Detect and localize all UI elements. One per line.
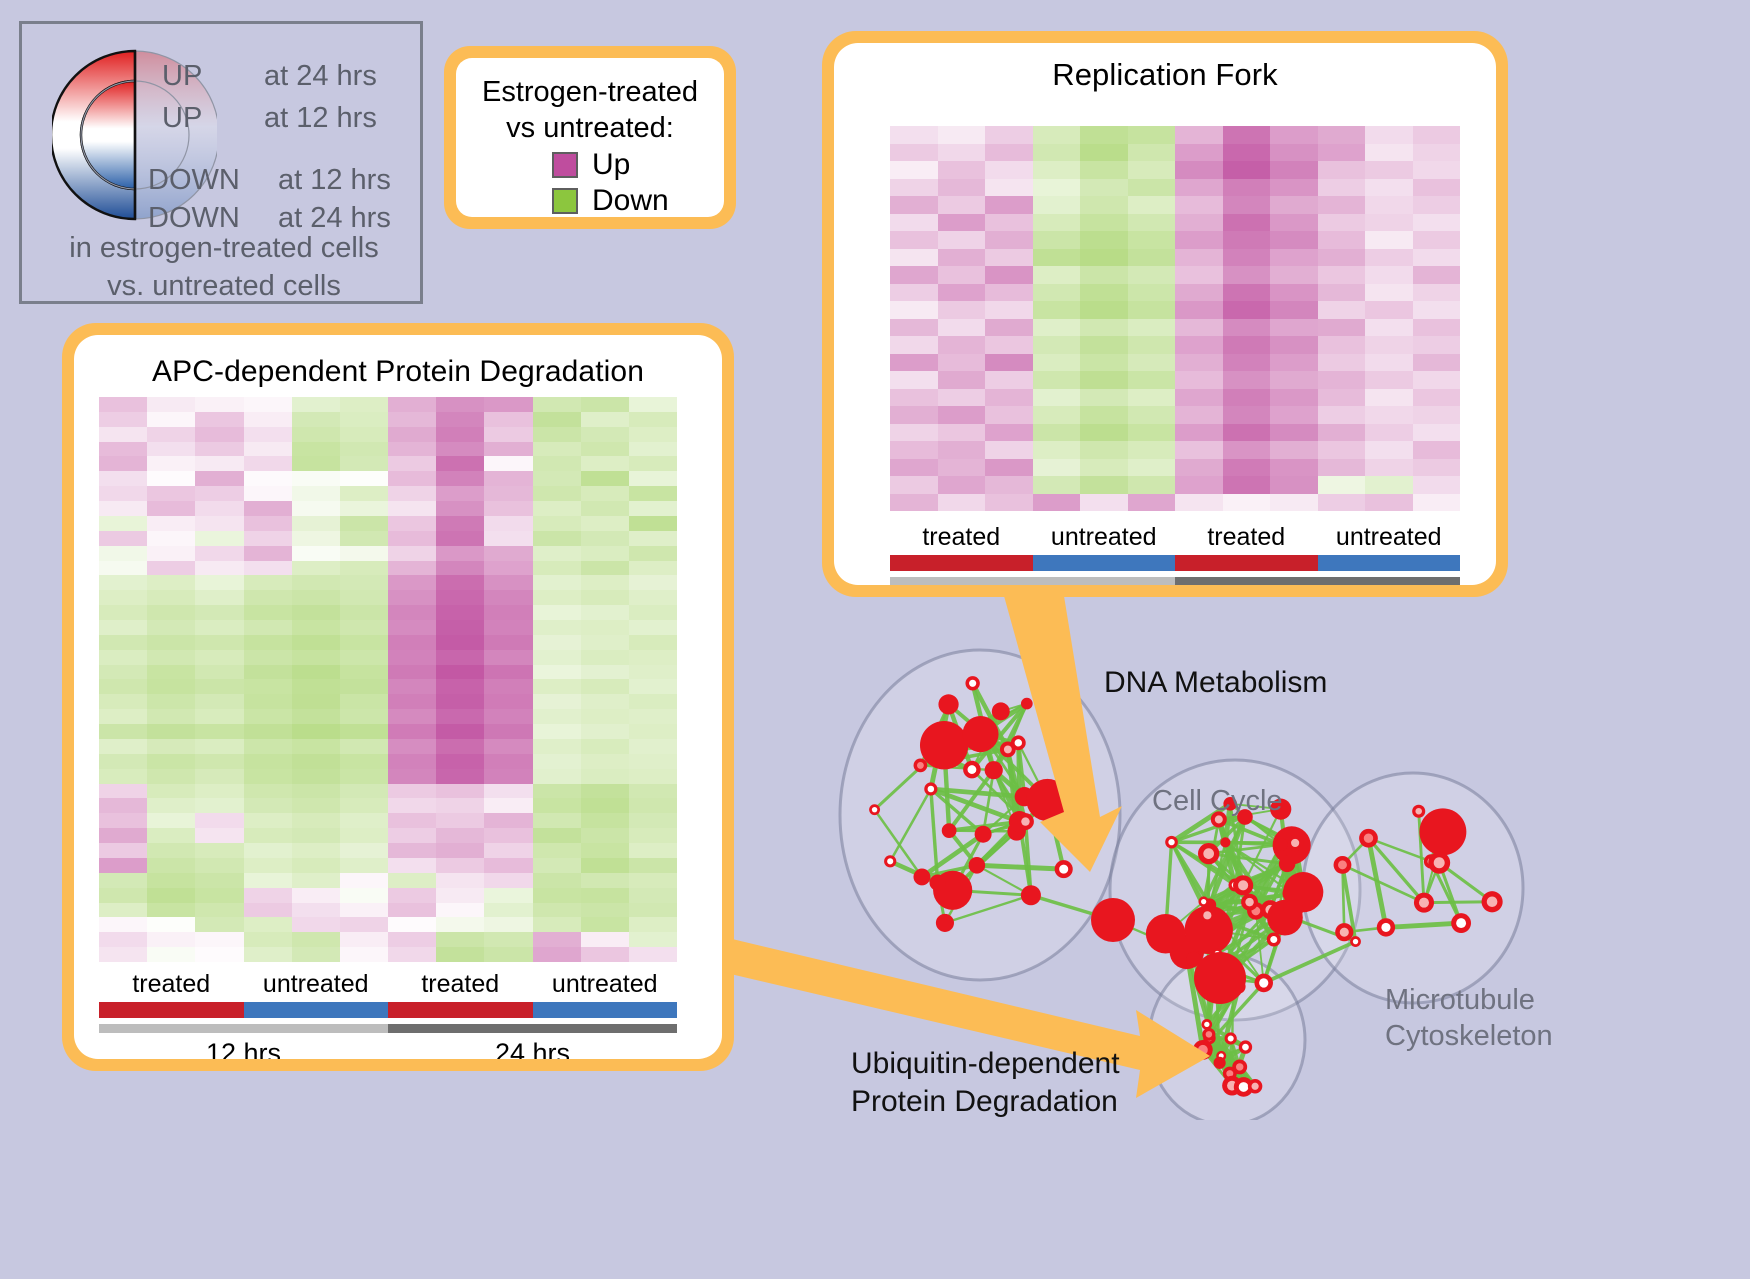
heatmap-cell	[1223, 371, 1271, 389]
heatmap-cell	[340, 947, 388, 962]
heatmap-cell	[484, 665, 532, 680]
heatmap-cell	[484, 784, 532, 799]
heatmap-cell	[244, 635, 292, 650]
heatmap-cell	[629, 932, 677, 947]
heatmap-cell	[292, 397, 340, 412]
heatmap-cell	[244, 828, 292, 843]
heatmap-cell	[195, 546, 243, 561]
heatmap-cell	[629, 635, 677, 650]
heatmap-cell	[1365, 284, 1413, 302]
heatmap-cell	[1413, 231, 1461, 249]
apc-title: APC-dependent Protein Degradation	[74, 335, 722, 389]
heatmap-cell	[533, 650, 581, 665]
heatmap-cell	[1175, 196, 1223, 214]
heatmap-cell	[436, 709, 484, 724]
network-node	[1146, 914, 1185, 953]
heatmap-cell	[629, 531, 677, 546]
heatmap-cell	[484, 501, 532, 516]
heatmap-cell	[436, 784, 484, 799]
heatmap-cell	[195, 665, 243, 680]
heatmap-cell	[195, 784, 243, 799]
heatmap-cell	[581, 754, 629, 769]
heatmap-cell	[985, 476, 1033, 494]
heatmap-cell	[629, 709, 677, 724]
heatmap-cell	[244, 442, 292, 457]
heatmap-cell	[436, 516, 484, 531]
heatmap-cell	[1128, 494, 1176, 512]
heatmap-cell	[340, 679, 388, 694]
heatmap-cell	[1318, 214, 1366, 232]
heatmap-cell	[581, 650, 629, 665]
heatmap-cell	[388, 456, 436, 471]
heatmap-cell	[292, 784, 340, 799]
heatmap-cell	[244, 873, 292, 888]
heatmap-cell	[484, 635, 532, 650]
heatmap-cell	[1175, 231, 1223, 249]
heatmap-cell	[1175, 319, 1223, 337]
heatmap-cell	[629, 561, 677, 576]
heatmap-cell	[533, 843, 581, 858]
heatmap-cell	[1365, 441, 1413, 459]
heatmap-cell	[244, 694, 292, 709]
heatmap-cell	[1080, 459, 1128, 477]
heatmap-cell	[147, 501, 195, 516]
heatmap-cell	[195, 769, 243, 784]
heatmap-cell	[1365, 459, 1413, 477]
heatmap-cell	[629, 412, 677, 427]
network-node	[1194, 952, 1246, 1004]
heatmap-cell	[484, 888, 532, 903]
heatmap-cell	[1365, 126, 1413, 144]
heatmap-cell	[436, 412, 484, 427]
heatmap-cell	[890, 319, 938, 337]
heatmap-cell	[1318, 354, 1366, 372]
heatmap-cell	[938, 459, 986, 477]
heatmap-cell	[484, 442, 532, 457]
heatmap-cell	[340, 813, 388, 828]
heatmap-cell	[985, 301, 1033, 319]
heatmap-cell	[1128, 371, 1176, 389]
heatmap-cell	[1033, 319, 1081, 337]
heatmap-cell	[436, 620, 484, 635]
heatmap-cell	[195, 903, 243, 918]
network-node-core	[1239, 1082, 1249, 1092]
heatmap-cell	[436, 694, 484, 709]
heatmap-cell	[195, 754, 243, 769]
replication-fork-title: Replication Fork	[834, 43, 1496, 93]
heatmap-cell	[1175, 284, 1223, 302]
heatmap-cell	[340, 575, 388, 590]
heatmap-cell	[195, 858, 243, 873]
network-node	[1284, 899, 1304, 919]
heatmap-cell	[99, 397, 147, 412]
heatmap-cell	[1128, 354, 1176, 372]
heatmap-cell	[340, 456, 388, 471]
heatmap-cell	[147, 412, 195, 427]
heatmap-cell	[484, 412, 532, 427]
heatmap-cell	[1223, 161, 1271, 179]
heatmap-cell	[484, 858, 532, 873]
heatmap-cell	[292, 442, 340, 457]
heatmap-cell	[147, 635, 195, 650]
heatmap-cell	[1033, 406, 1081, 424]
heatmap-cell	[388, 501, 436, 516]
heatmap-cell	[484, 917, 532, 932]
heatmap-cell	[1128, 319, 1176, 337]
heatmap-cell	[1128, 179, 1176, 197]
heatmap-cell	[436, 456, 484, 471]
heatmap-cell	[581, 828, 629, 843]
replication-fork-axis: treated untreated treated untreated 12 h…	[890, 523, 1460, 585]
key-row-0-label: UP	[162, 60, 202, 93]
heatmap-cell	[484, 843, 532, 858]
network-node	[1026, 779, 1068, 821]
heatmap-cell	[938, 214, 986, 232]
heatmap-cell	[292, 605, 340, 620]
heatmap-cell	[99, 917, 147, 932]
heatmap-cell	[581, 709, 629, 724]
updown-legend-panel: Estrogen-treated vs untreated: Up Down	[444, 46, 736, 229]
network-node	[1220, 837, 1230, 847]
heatmap-cell	[292, 427, 340, 442]
heatmap-cell	[147, 546, 195, 561]
heatmap-cell	[629, 679, 677, 694]
heatmap-cell	[484, 828, 532, 843]
time-colorbar-segment	[99, 1024, 388, 1033]
heatmap-cell	[629, 739, 677, 754]
heatmap-cell	[1128, 459, 1176, 477]
heatmap-cell	[629, 888, 677, 903]
heatmap-cell	[1175, 389, 1223, 407]
heatmap-cell	[99, 531, 147, 546]
heatmap-cell	[1413, 389, 1461, 407]
heatmap-cell	[340, 665, 388, 680]
heatmap-cell	[244, 665, 292, 680]
heatmap-cell	[244, 427, 292, 442]
heatmap-cell	[581, 397, 629, 412]
heatmap-cell	[1318, 301, 1366, 319]
heatmap-cell	[1175, 249, 1223, 267]
heatmap-cell	[1080, 284, 1128, 302]
heatmap-cell	[1365, 336, 1413, 354]
heatmap-cell	[1270, 179, 1318, 197]
heatmap-cell	[340, 888, 388, 903]
heatmap-cell	[388, 650, 436, 665]
heatmap-cell	[533, 769, 581, 784]
key-row-2-time: at 12 hrs	[278, 164, 391, 197]
heatmap-cell	[147, 397, 195, 412]
heatmap-cell	[388, 516, 436, 531]
heatmap-cell	[388, 769, 436, 784]
heatmap-cell	[244, 590, 292, 605]
heatmap-cell	[147, 531, 195, 546]
heatmap-cell	[938, 441, 986, 459]
heatmap-cell	[938, 161, 986, 179]
heatmap-cell	[581, 724, 629, 739]
heatmap-cell	[484, 620, 532, 635]
heatmap-cell	[99, 575, 147, 590]
heatmap-cell	[195, 427, 243, 442]
heatmap-cell	[1128, 144, 1176, 162]
heatmap-cell	[1080, 179, 1128, 197]
heatmap-cell	[985, 231, 1033, 249]
heatmap-cell	[340, 784, 388, 799]
heatmap-cell	[938, 144, 986, 162]
heatmap-cell	[195, 694, 243, 709]
heatmap-cell	[581, 858, 629, 873]
heatmap-cell	[1223, 144, 1271, 162]
color-key-footer-line1: in estrogen-treated cells	[22, 229, 426, 267]
legend-label-up: Up	[592, 148, 630, 182]
heatmap-cell	[147, 843, 195, 858]
heatmap-cell	[1080, 424, 1128, 442]
heatmap-cell	[436, 828, 484, 843]
heatmap-cell	[484, 650, 532, 665]
heatmap-cell	[388, 665, 436, 680]
heatmap-cell	[1413, 196, 1461, 214]
heatmap-cell	[244, 784, 292, 799]
cluster-label-cell-cycle: Cell Cycle	[1152, 785, 1283, 818]
heatmap-cell	[581, 486, 629, 501]
heatmap-cell	[985, 354, 1033, 372]
replication-fork-panel: Replication Fork treated untreated treat…	[822, 31, 1508, 597]
network-node-core	[1204, 1022, 1209, 1027]
heatmap-cell	[1033, 249, 1081, 267]
heatmap-cell	[195, 397, 243, 412]
heatmap-cell	[292, 903, 340, 918]
heatmap-cell	[99, 813, 147, 828]
heatmap-cell	[581, 888, 629, 903]
heatmap-cell	[1080, 319, 1128, 337]
heatmap-cell	[388, 828, 436, 843]
heatmap-cell	[1270, 144, 1318, 162]
apc-axis: treated untreated treated untreated 12 h…	[99, 970, 677, 1059]
heatmap-cell	[533, 412, 581, 427]
heatmap-cell	[292, 843, 340, 858]
heatmap-cell	[244, 516, 292, 531]
network-node-core	[1456, 918, 1466, 928]
heatmap-cell	[99, 769, 147, 784]
heatmap-cell	[629, 516, 677, 531]
heatmap-cell	[1033, 354, 1081, 372]
heatmap-cell	[484, 590, 532, 605]
heatmap-cell	[1413, 161, 1461, 179]
apc-panel: APC-dependent Protein Degradation treate…	[62, 323, 734, 1071]
heatmap-cell	[985, 266, 1033, 284]
heatmap-cell	[147, 917, 195, 932]
heatmap-cell	[1413, 214, 1461, 232]
heatmap-cell	[1365, 249, 1413, 267]
heatmap-cell	[1270, 249, 1318, 267]
heatmap-cell	[1270, 336, 1318, 354]
heatmap-cell	[1080, 336, 1128, 354]
heatmap-cell	[292, 471, 340, 486]
heatmap-cell	[292, 858, 340, 873]
group-colorbar-segment	[1175, 555, 1318, 571]
heatmap-cell	[1080, 371, 1128, 389]
heatmap-cell	[388, 471, 436, 486]
network-node-core	[1338, 860, 1347, 869]
network-node	[1091, 898, 1135, 942]
heatmap-cell	[629, 620, 677, 635]
heatmap-cell	[1270, 476, 1318, 494]
heatmap-cell	[533, 903, 581, 918]
apc-group-colorbar	[99, 1002, 677, 1018]
network-node-core	[1015, 739, 1022, 746]
heatmap-cell	[985, 161, 1033, 179]
heatmap-cell	[581, 516, 629, 531]
heatmap-cell	[1080, 406, 1128, 424]
heatmap-cell	[1033, 214, 1081, 232]
heatmap-cell	[1080, 354, 1128, 372]
figure-canvas: UP at 24 hrs UP at 12 hrs DOWN at 12 hrs…	[0, 0, 1750, 1279]
heatmap-cell	[436, 442, 484, 457]
heatmap-cell	[292, 546, 340, 561]
heatmap-cell	[1175, 179, 1223, 197]
heatmap-cell	[436, 486, 484, 501]
heatmap-cell	[1175, 441, 1223, 459]
heatmap-cell	[938, 406, 986, 424]
network-node	[942, 823, 957, 838]
heatmap-cell	[484, 739, 532, 754]
group-colorbar-segment	[99, 1002, 244, 1018]
heatmap-cell	[436, 679, 484, 694]
heatmap-cell	[890, 144, 938, 162]
heatmap-cell	[581, 798, 629, 813]
heatmap-cell	[581, 531, 629, 546]
heatmap-cell	[1128, 231, 1176, 249]
heatmap-cell	[195, 888, 243, 903]
heatmap-cell	[1033, 144, 1081, 162]
heatmap-cell	[1318, 231, 1366, 249]
heatmap-cell	[1270, 284, 1318, 302]
heatmap-cell	[195, 456, 243, 471]
heatmap-cell	[484, 932, 532, 947]
heatmap-cell	[388, 605, 436, 620]
heatmap-cell	[1175, 406, 1223, 424]
heatmap-cell	[436, 531, 484, 546]
heatmap-cell	[1365, 389, 1413, 407]
heatmap-cell	[1365, 161, 1413, 179]
heatmap-cell	[890, 161, 938, 179]
heatmap-cell	[340, 932, 388, 947]
heatmap-cell	[629, 442, 677, 457]
heatmap-cell	[147, 590, 195, 605]
heatmap-cell	[1223, 476, 1271, 494]
heatmap-cell	[890, 406, 938, 424]
heatmap-cell	[340, 397, 388, 412]
legend-title-line2: vs untreated:	[456, 110, 724, 146]
network-node-core	[1236, 1063, 1243, 1070]
heatmap-cell	[340, 605, 388, 620]
heatmap-cell	[938, 389, 986, 407]
heatmap-cell	[292, 694, 340, 709]
heatmap-cell	[1128, 284, 1176, 302]
group-colorbar-segment	[890, 555, 1033, 571]
heatmap-cell	[99, 873, 147, 888]
heatmap-cell	[147, 754, 195, 769]
heatmap-cell	[1413, 441, 1461, 459]
heatmap-cell	[195, 813, 243, 828]
group-label: treated	[1175, 523, 1318, 552]
heatmap-cell	[1033, 459, 1081, 477]
heatmap-cell	[1270, 441, 1318, 459]
heatmap-cell	[388, 903, 436, 918]
heatmap-cell	[340, 843, 388, 858]
heatmap-cell	[938, 196, 986, 214]
network-node-core	[1059, 865, 1068, 874]
heatmap-cell	[581, 501, 629, 516]
network-node-core	[1021, 817, 1029, 825]
key-row-2-label: DOWN	[148, 164, 240, 197]
heatmap-cell	[292, 724, 340, 739]
heatmap-cell	[1318, 249, 1366, 267]
heatmap-cell	[292, 516, 340, 531]
heatmap-cell	[484, 516, 532, 531]
heatmap-cell	[484, 873, 532, 888]
heatmap-cell	[1175, 144, 1223, 162]
heatmap-cell	[1413, 354, 1461, 372]
network-node-core	[1251, 1083, 1258, 1090]
heatmap-cell	[292, 769, 340, 784]
heatmap-cell	[244, 456, 292, 471]
heatmap-cell	[1413, 336, 1461, 354]
heatmap-cell	[1175, 494, 1223, 512]
heatmap-cell	[1365, 371, 1413, 389]
heatmap-cell	[147, 650, 195, 665]
heatmap-cell	[581, 665, 629, 680]
heatmap-cell	[1365, 354, 1413, 372]
heatmap-cell	[1033, 266, 1081, 284]
group-label: treated	[890, 523, 1033, 552]
legend-swatch-down	[552, 188, 578, 214]
heatmap-cell	[244, 813, 292, 828]
heatmap-cell	[1270, 371, 1318, 389]
heatmap-cell	[985, 494, 1033, 512]
heatmap-cell	[195, 471, 243, 486]
group-colorbar-segment	[244, 1002, 389, 1018]
heatmap-cell	[1413, 406, 1461, 424]
heatmap-cell	[533, 665, 581, 680]
heatmap-cell	[244, 739, 292, 754]
heatmap-cell	[890, 249, 938, 267]
heatmap-cell	[533, 486, 581, 501]
heatmap-cell	[436, 665, 484, 680]
heatmap-cell	[533, 858, 581, 873]
heatmap-cell	[1365, 319, 1413, 337]
network-node	[929, 874, 945, 890]
heatmap-cell	[147, 947, 195, 962]
heatmap-cell	[581, 932, 629, 947]
heatmap-cell	[938, 179, 986, 197]
heatmap-cell	[195, 635, 243, 650]
group-label: untreated	[1318, 523, 1461, 552]
heatmap-cell	[1080, 494, 1128, 512]
heatmap-cell	[581, 635, 629, 650]
heatmap-cell	[1318, 284, 1366, 302]
heatmap-cell	[195, 442, 243, 457]
heatmap-cell	[533, 679, 581, 694]
heatmap-cell	[195, 932, 243, 947]
time-colorbar-segment	[1175, 577, 1460, 585]
heatmap-cell	[340, 471, 388, 486]
heatmap-cell	[244, 903, 292, 918]
replication-fork-time-colorbar	[890, 577, 1460, 585]
network-node	[1419, 808, 1466, 855]
heatmap-cell	[938, 354, 986, 372]
heatmap-cell	[1128, 266, 1176, 284]
heatmap-cell	[244, 605, 292, 620]
